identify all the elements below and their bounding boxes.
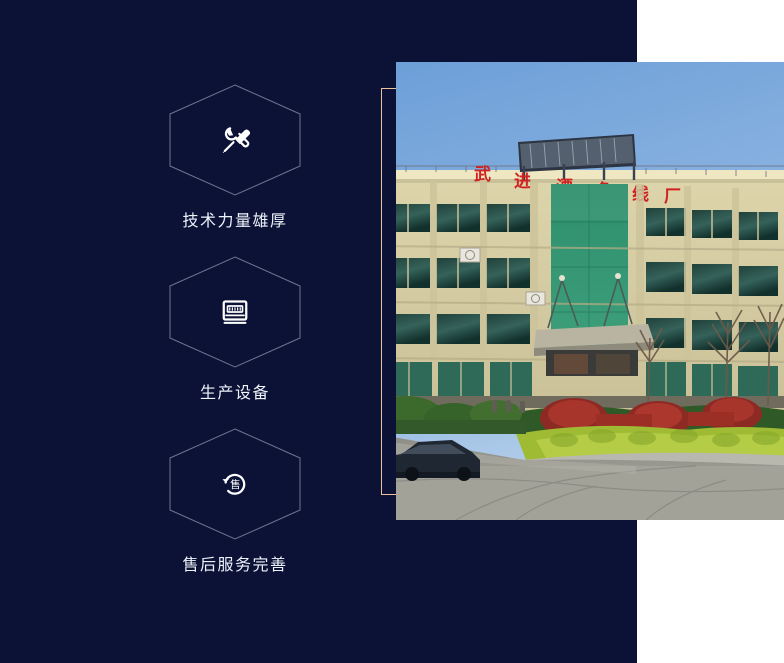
hexagon-badge <box>145 82 325 198</box>
machine-equipment-icon <box>145 254 325 370</box>
svg-text:进: 进 <box>514 172 531 191</box>
factory-building-photo: 武 进 漂 色 线 厂 <box>396 62 784 520</box>
hexagon-badge <box>145 254 325 370</box>
hexagon-badge: 售 <box>145 426 325 542</box>
after-sales-return-icon: 售 <box>145 426 325 542</box>
feature-item-technology[interactable]: 技术力量雄厚 <box>145 82 325 232</box>
feature-label: 生产设备 <box>145 384 325 404</box>
feature-list: 技术力量雄厚 <box>145 82 325 598</box>
svg-text:厂: 厂 <box>664 187 681 206</box>
feature-item-after-sales[interactable]: 售 售后服务完善 <box>145 426 325 576</box>
wrench-screwdriver-icon <box>145 82 325 198</box>
svg-text:售: 售 <box>230 478 241 491</box>
feature-showcase-section: 技术力量雄厚 <box>0 0 784 663</box>
feature-item-equipment[interactable]: 生产设备 <box>145 254 325 404</box>
feature-label: 技术力量雄厚 <box>145 212 325 232</box>
feature-label: 售后服务完善 <box>145 556 325 576</box>
